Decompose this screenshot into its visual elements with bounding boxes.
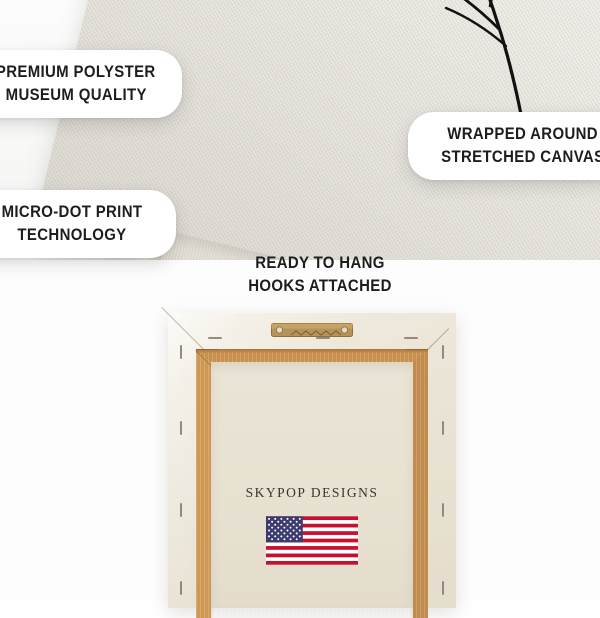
badge-line-1: PREMIUM POLYSTER bbox=[0, 61, 156, 84]
badge-line-1: WRAPPED AROUND bbox=[448, 123, 599, 146]
sawtooth-hanger-icon bbox=[271, 322, 353, 339]
staple bbox=[442, 345, 444, 359]
marketing-image: PREMIUM POLYSTER MUSEUM QUALITY WRAPPED … bbox=[0, 0, 600, 600]
united-states-flag-icon bbox=[266, 516, 358, 565]
feature-badge-premium-polyster: PREMIUM POLYSTER MUSEUM QUALITY bbox=[0, 50, 182, 118]
staple bbox=[208, 337, 222, 339]
badge-line-2: TECHNOLOGY bbox=[17, 224, 126, 247]
staple bbox=[180, 503, 182, 517]
callout-line-1: READY TO HANG bbox=[214, 252, 425, 275]
staple bbox=[180, 345, 182, 359]
staple bbox=[442, 503, 444, 517]
staple bbox=[442, 421, 444, 435]
staple bbox=[180, 581, 182, 595]
staple bbox=[180, 421, 182, 435]
frame-top-shadow-edge bbox=[196, 349, 428, 353]
callout-line-2: HOOKS ATTACHED bbox=[214, 275, 425, 298]
feature-badge-wrapped-around-stretched-canvas: WRAPPED AROUND STRETCHED CANVAS bbox=[408, 112, 600, 180]
canvas-back-mockup: SKYPOP DESIGNS bbox=[168, 313, 456, 608]
badge-line-1: MICRO-DOT PRINT bbox=[2, 201, 143, 224]
brand-name: SKYPOP DESIGNS bbox=[168, 485, 456, 501]
staple bbox=[404, 337, 418, 339]
ready-to-hang-callout: READY TO HANG HOOKS ATTACHED bbox=[200, 252, 440, 298]
badge-line-2: STRETCHED CANVAS bbox=[441, 146, 600, 169]
badge-line-2: MUSEUM QUALITY bbox=[5, 84, 146, 107]
feature-badge-micro-dot-print-technology: MICRO-DOT PRINT TECHNOLOGY bbox=[0, 190, 176, 258]
staple bbox=[442, 581, 444, 595]
